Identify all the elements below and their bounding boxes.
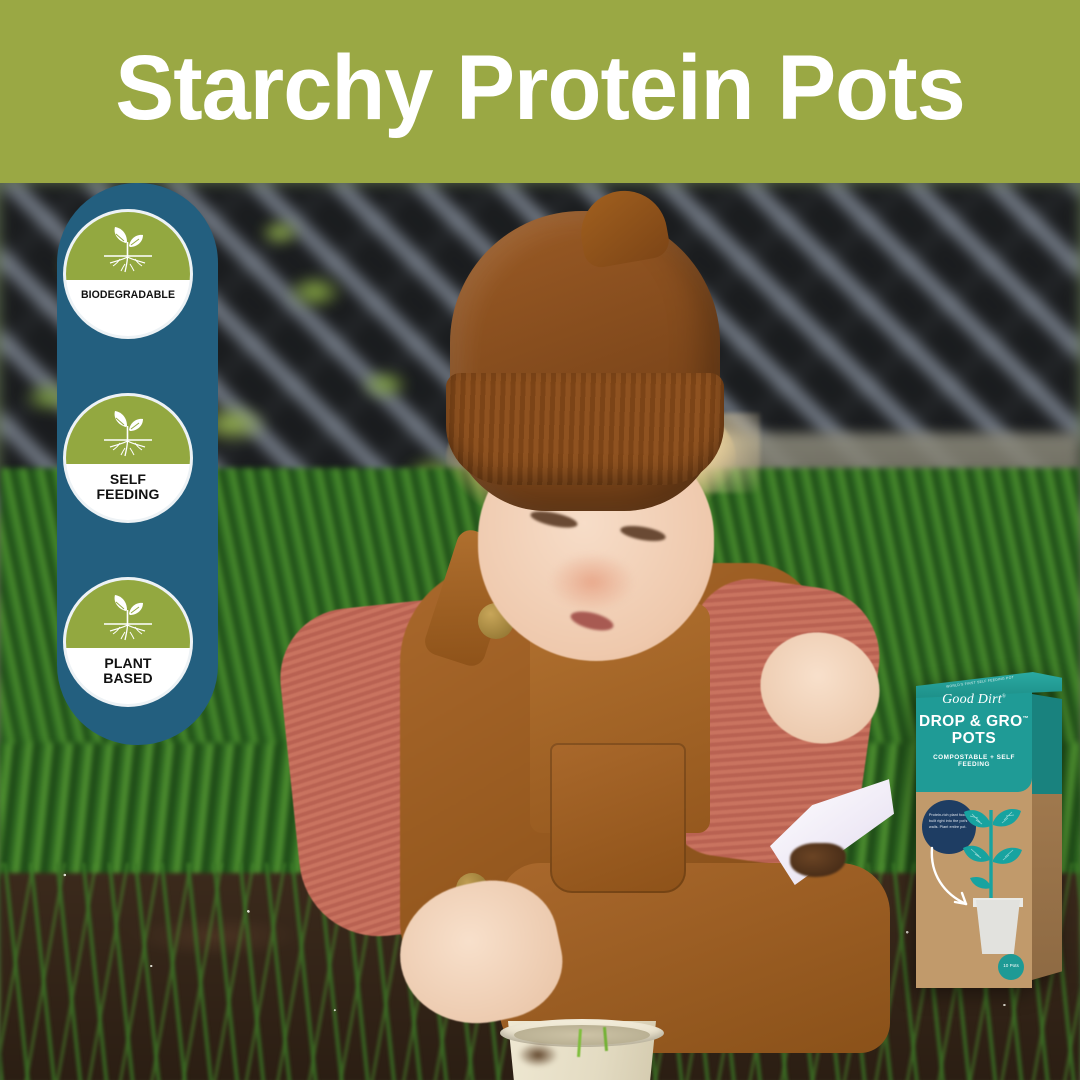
trademark-mark: ™ [1023,716,1029,722]
badge-top-half [66,396,190,464]
quantity-badge: 10 Pots [998,954,1024,980]
toddler-figure [250,183,890,1043]
badge-plant-based[interactable]: PLANT BASED [66,580,190,704]
quantity-badge-text: 10 Pots [998,963,1024,968]
badge-top-half [66,212,190,280]
plant-illustration [960,802,1024,908]
brand-name: Good Dirt [942,692,1002,707]
badge-label-line2: BASED [66,671,190,686]
seedling-roots-icon [96,406,160,462]
beanie-cuff [446,373,724,485]
badge-self-feeding[interactable]: SELF FEEDING [66,396,190,520]
badge-label: BIODEGRADABLE [70,282,187,303]
overalls-pocket [550,743,686,893]
badge-label: SELF FEEDING [66,466,190,502]
cheek [550,553,634,611]
box-title-line1: DROP & GRO™ [916,713,1032,731]
box-pot-illustration [976,900,1020,954]
badge-label-line1: PLANT [66,656,190,671]
pot-soil-smudge [518,1043,558,1067]
seedling-roots-icon [96,590,160,646]
seedling-roots-icon [96,222,160,278]
box-teal-header-side [1032,694,1062,794]
box-subtitle: COMPOSTABLE + SELF FEEDING [916,754,1032,768]
badge-top-half [66,580,190,648]
poster-canvas: Starchy Protein Pots [0,0,1080,1080]
badge-label: PLANT BASED [66,650,190,686]
product-box: WORLD'S FIRST SELF FEEDING POT Good Dirt… [916,672,1062,988]
box-top-flap-text: WORLD'S FIRST SELF FEEDING POT [932,673,1028,690]
page-title: Starchy Protein Pots [22,38,1059,138]
beanie-top-nub [574,184,671,270]
brand-logo: Good Dirt® [916,692,1032,708]
feature-badge-panel: BIODEGRADABLE [57,183,218,745]
badge-label-line2: FEEDING [66,487,190,502]
badge-label-line1: SELF [66,472,190,487]
box-title-text: DROP & GRO [919,713,1023,730]
header-banner: Starchy Protein Pots [0,0,1080,183]
pot-interior [514,1025,650,1045]
box-title-line2: POTS [916,730,1032,748]
badge-biodegradable[interactable]: BIODEGRADABLE [66,212,190,336]
registered-mark: ® [1002,694,1006,699]
